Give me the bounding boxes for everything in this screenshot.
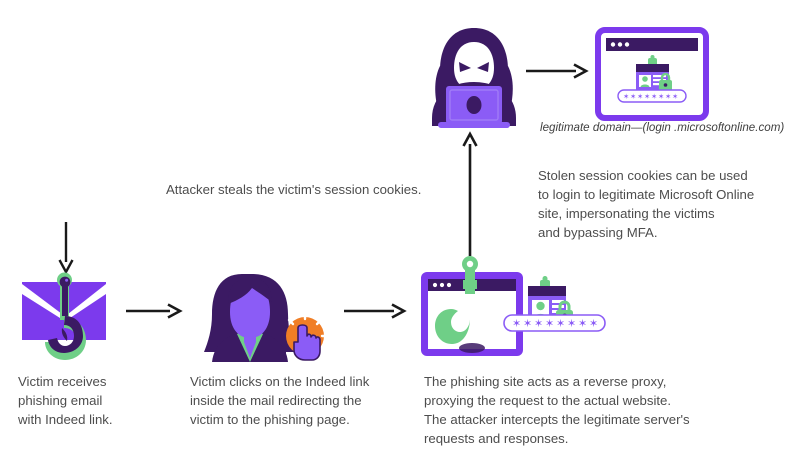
svg-text:✶: ✶: [578, 318, 587, 330]
svg-text:✶: ✶: [637, 92, 643, 101]
arrow-down-to-email: [56, 222, 76, 272]
svg-text:✶: ✶: [556, 318, 565, 330]
svg-text:✶: ✶: [665, 92, 671, 101]
arrow-victim-to-phishing-site: [344, 302, 406, 320]
phishing-email-envelope-icon: [18, 272, 114, 364]
attacker-steals-cookies-caption: Attacker steals the victim's session coo…: [166, 180, 486, 199]
svg-text:✶: ✶: [623, 92, 629, 101]
arrow-email-to-victim: [126, 302, 182, 320]
svg-text:✶: ✶: [672, 92, 678, 101]
step-email-caption: Victim receives phishing email with Inde…: [18, 372, 178, 429]
svg-text:✶: ✶: [534, 318, 543, 330]
step-phishing-site-caption: The phishing site acts as a reverse prox…: [424, 372, 804, 449]
svg-text:✶: ✶: [658, 92, 664, 101]
svg-text:✶: ✶: [651, 92, 657, 101]
legitimate-browser-login-icon: ✶✶✶ ✶✶✶ ✶✶: [596, 28, 708, 120]
diagram-canvas: ✶✶✶ ✶✶✶ ✶✶ legitimate domain—(login .mic…: [0, 0, 810, 450]
svg-text:✶: ✶: [644, 92, 650, 101]
svg-text:✶: ✶: [630, 92, 636, 101]
svg-text:✶: ✶: [523, 318, 532, 330]
svg-text:✶: ✶: [589, 318, 598, 330]
victim-person-click-icon: [190, 270, 330, 366]
arrow-attacker-to-legitimate-site: [526, 62, 588, 80]
phishing-site-browser-hook-icon: ✶✶✶ ✶✶✶ ✶✶: [416, 258, 606, 368]
step-victim-caption: Victim clicks on the Indeed link inside …: [190, 372, 420, 429]
stolen-cookies-note: Stolen session cookies can be used to lo…: [538, 166, 804, 243]
hacker-laptop-icon: [414, 22, 534, 132]
svg-text:✶: ✶: [567, 318, 576, 330]
svg-text:✶: ✶: [512, 318, 521, 330]
legitimate-domain-caption: legitimate domain—(login .microsoftonlin…: [540, 120, 810, 137]
svg-text:✶: ✶: [545, 318, 554, 330]
arrow-phishing-site-to-attacker: [460, 134, 480, 258]
